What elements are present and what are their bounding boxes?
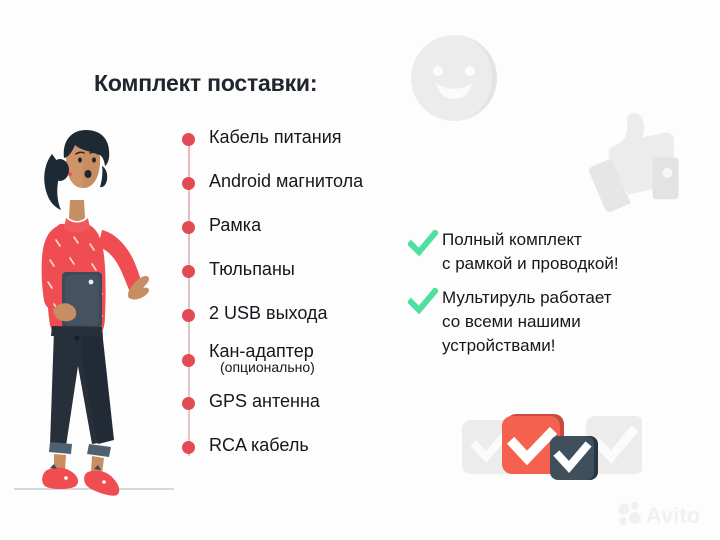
list-item: Android магнитола	[176, 170, 406, 200]
list-item-label: Кабель питания	[209, 126, 342, 148]
bullet-dot-icon	[182, 441, 195, 454]
woman-with-tablet-illustration	[14, 112, 174, 512]
list-item: RCA кабель	[176, 434, 406, 464]
bullet-dot-icon	[182, 397, 195, 410]
list-item-label: Рамка	[209, 214, 261, 236]
list-item-label: RCA кабель	[209, 434, 309, 456]
check-icon	[408, 288, 438, 316]
bullet-dot-icon	[182, 354, 195, 367]
smiley-face-icon	[404, 28, 504, 128]
list-item: Рамка	[176, 214, 406, 244]
check-icon	[408, 230, 438, 258]
list-item-label: GPS антенна	[209, 390, 320, 412]
bullet-dot-icon	[182, 177, 195, 190]
list-item-label: Тюльпаны	[209, 258, 295, 280]
list-item-label: 2 USB выхода	[209, 302, 327, 324]
avito-wordmark: Avito	[646, 503, 700, 528]
bullet-dot-icon	[182, 265, 195, 278]
list-item: Кан-адаптер (опционально)	[176, 340, 406, 370]
thumbs-up-icon	[576, 108, 688, 212]
list-item-label: Android магнитола	[209, 170, 363, 192]
list-item-sublabel: (опционально)	[220, 359, 315, 376]
list-item: Тюльпаны	[176, 258, 406, 288]
list-item: GPS антенна	[176, 390, 406, 420]
list-item: 2 USB выхода	[176, 302, 406, 332]
list-item: Кабель питания	[176, 126, 406, 156]
bullet-dot-icon	[182, 133, 195, 146]
feature-text: Мультируль работает со всеми нашими устр…	[442, 286, 612, 358]
equipment-list: Кабель питания Android магнитола Рамка Т…	[176, 126, 406, 466]
checkbox-cards-icon	[462, 412, 642, 498]
promo-canvas: Комплект поставки:	[0, 0, 720, 540]
avito-watermark: Avito	[616, 500, 712, 528]
feature-text: Полный комплект с рамкой и проводкой!	[442, 228, 619, 276]
bullet-dot-icon	[182, 221, 195, 234]
page-title: Комплект поставки:	[94, 70, 317, 97]
bullet-dot-icon	[182, 309, 195, 322]
